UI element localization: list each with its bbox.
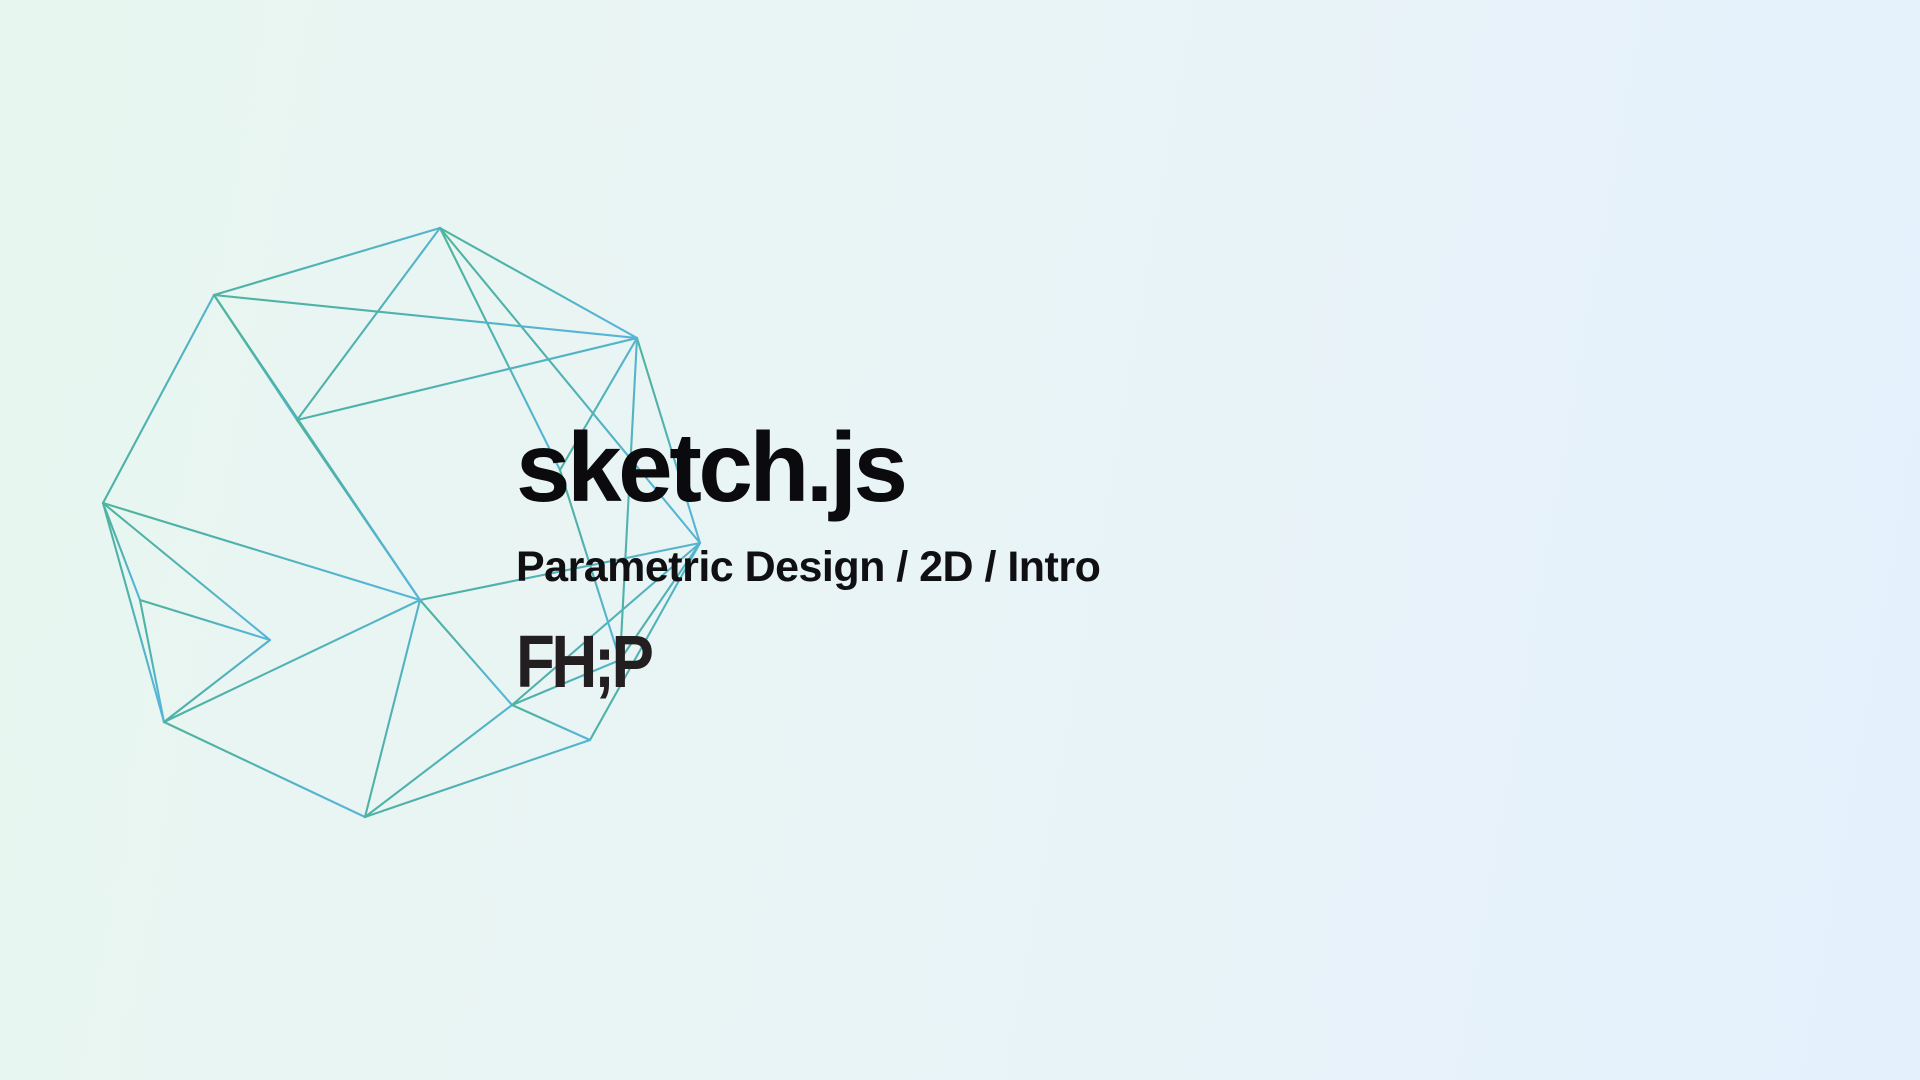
wireframe-edge xyxy=(103,503,164,722)
wireframe-edge xyxy=(214,228,440,295)
wireframe-edge xyxy=(214,295,637,338)
page-subtitle: Parametric Design / 2D / Intro xyxy=(516,516,1496,589)
wireframe-edge xyxy=(420,600,512,705)
page-title: sketch.js xyxy=(516,418,1496,516)
wireframe-edge xyxy=(103,295,214,503)
wireframe-edge xyxy=(164,600,420,722)
wireframe-edge xyxy=(440,228,637,338)
wireframe-edge xyxy=(365,740,590,817)
wireframe-edge xyxy=(214,295,297,420)
wireframe-edge xyxy=(214,295,420,600)
wireframe-edge xyxy=(297,228,440,420)
wireframe-edge xyxy=(140,600,164,722)
wireframe-edge xyxy=(365,705,512,817)
wireframe-edge xyxy=(103,503,420,600)
wireframe-edge xyxy=(164,640,270,722)
wireframe-edge xyxy=(103,503,270,640)
brand-logo: FH;P xyxy=(516,589,1359,699)
wireframe-edge xyxy=(103,503,140,600)
wireframe-edge xyxy=(512,705,590,740)
slide-canvas: sketch.js Parametric Design / 2D / Intro… xyxy=(0,0,1920,1080)
title-group: sketch.js Parametric Design / 2D / Intro… xyxy=(516,418,1496,699)
wireframe-edge xyxy=(297,420,420,600)
wireframe-edge xyxy=(365,600,420,817)
wireframe-edge xyxy=(164,722,365,817)
wireframe-edge xyxy=(140,600,270,640)
wireframe-edge xyxy=(297,338,637,420)
